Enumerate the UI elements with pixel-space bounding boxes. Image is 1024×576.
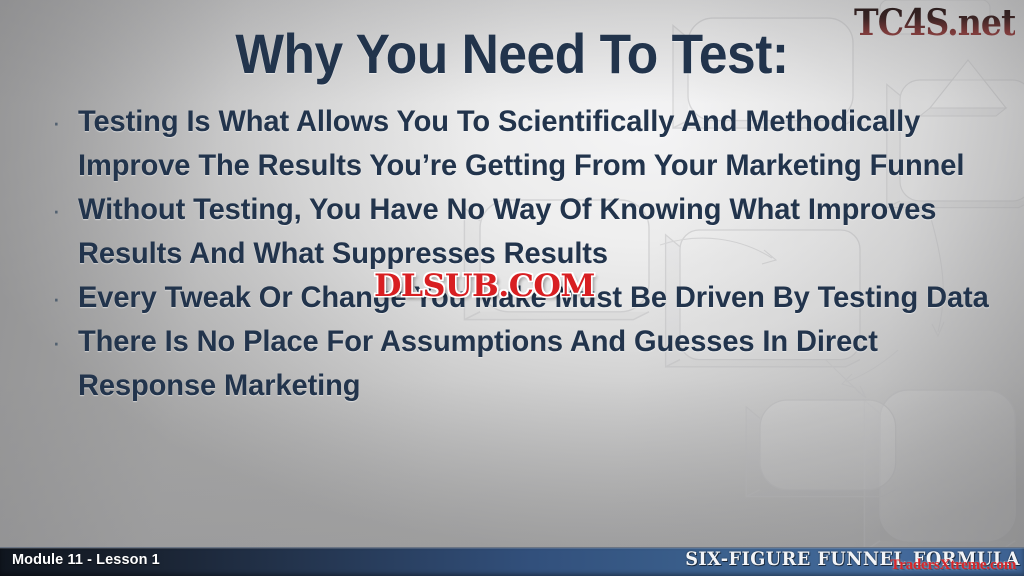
bullet-text: There Is No Place For Assumptions And Gu… [78,320,990,408]
footer-bar: Module 11 - Lesson 1 SIX-FIGURE FUNNEL F… [0,547,1024,576]
bullet-text: Testing Is What Allows You To Scientific… [78,100,990,188]
bullet-dot-icon: · [44,320,78,364]
list-item: · Testing Is What Allows You To Scientif… [44,100,1004,188]
watermark-dlsub: DLSUB.COM [374,268,595,304]
presentation-slide: Why You Need To Test: · Testing Is What … [0,0,1024,576]
bullet-dot-icon: · [44,276,78,320]
bullet-list: · Testing Is What Allows You To Scientif… [44,100,1004,408]
bullet-dot-icon: · [44,188,78,232]
watermark-tc4s: TC4S.net [854,2,1015,44]
list-item: · Without Testing, You Have No Way Of Kn… [44,188,1004,276]
bullet-dot-icon: · [44,100,78,144]
module-lesson-label: Module 11 - Lesson 1 [12,552,160,568]
bullet-text: Without Testing, You Have No Way Of Know… [78,188,990,276]
list-item: · There Is No Place For Assumptions And … [44,320,1004,408]
page-title: Why You Need To Test: [41,21,983,86]
watermark-tradersxtreme: TradersXtreme.com [890,557,1016,574]
